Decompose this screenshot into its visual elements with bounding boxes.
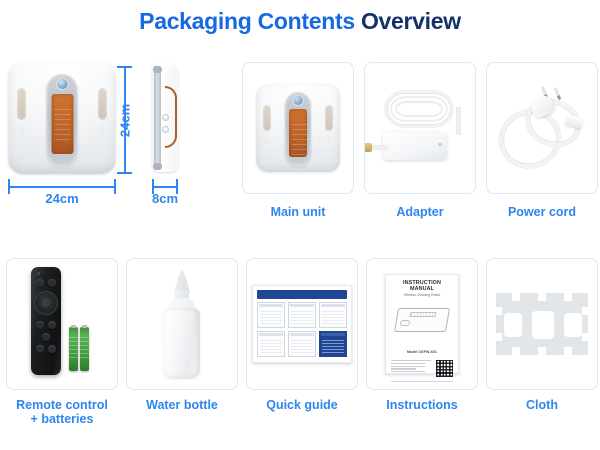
cloth-cutout-right (564, 313, 582, 337)
packaging-contents-overview: Packaging Contents Overview (0, 0, 600, 450)
adapter-output-wire (457, 108, 460, 134)
side-rail (154, 68, 161, 168)
quick-guide-panel (288, 331, 316, 357)
quick-guide-panel (257, 302, 285, 328)
rail-cap-top-icon (153, 66, 162, 73)
manual-footer (391, 360, 453, 377)
manual-text-line (391, 363, 425, 364)
card-adapter[interactable] (364, 62, 476, 194)
card-label-remote-control: Remote control + batteries (0, 398, 124, 426)
cloth-notch-top-1 (512, 292, 520, 301)
cloth-notch-right-bottom (582, 333, 589, 341)
manual-text-line (391, 360, 431, 361)
quick-guide-panel-highlight (319, 331, 347, 357)
card-cloth-media (487, 259, 597, 389)
window-cleaning-robot-icon (256, 84, 340, 172)
card-main-unit[interactable] (242, 62, 354, 194)
bottle-body (164, 308, 200, 378)
cleaning-cloth-icon (496, 293, 588, 355)
remote-button-right-2 (48, 345, 56, 353)
cloth-notch-bottom-2 (538, 347, 546, 356)
remote-dpad (34, 291, 58, 315)
display-screen (289, 109, 307, 157)
power-cord-icon (495, 82, 589, 174)
plug-pin-right-icon (554, 87, 562, 100)
page-title-primary: Packaging Contents (139, 8, 361, 34)
battery-icon-2 (80, 327, 89, 371)
manual-illustration-slot (410, 312, 437, 317)
dimension-label-depth: 8cm (143, 191, 187, 206)
quick-guide-header-bar (257, 290, 347, 299)
quick-guide-panel-grid (257, 302, 347, 357)
manual-product-illustration (394, 302, 450, 336)
cloth-cutout-left (504, 313, 522, 337)
power-adapter-icon (374, 80, 466, 176)
dimension-label-height: 24cm (118, 101, 133, 141)
remote-dpad-center (42, 299, 51, 308)
card-power-cord-media (487, 63, 597, 193)
dimension-tick-height-top (117, 66, 132, 68)
cloth-notch-left-top (495, 307, 502, 315)
side-pad-right-icon (325, 105, 333, 131)
adapter-cable-coil-inner (395, 101, 443, 117)
water-drop-right-icon (326, 133, 333, 143)
display-screen (51, 94, 73, 154)
bottom-foot (290, 164, 306, 168)
dimension-line-depth (152, 186, 178, 188)
card-label-instructions: Instructions (366, 398, 478, 412)
bottom-foot (54, 166, 70, 170)
remote-control-icon (31, 267, 61, 375)
remote-button-center-2 (42, 333, 50, 341)
cloth-notch-right-top (582, 307, 589, 315)
cloth-notch-top-3 (564, 292, 572, 301)
ir-led-icon (37, 272, 40, 275)
power-button-icon (294, 96, 303, 105)
manual-subheading: Window Cleaning Robot (391, 293, 453, 297)
bottle-nozzle-cap (174, 269, 190, 293)
water-drop-left-icon (263, 133, 270, 143)
dimension-label-width: 24cm (8, 191, 116, 206)
instruction-manual-icon: INSTRUCTION MANUAL Window Cleaning Robot… (385, 274, 459, 374)
center-panel (285, 92, 311, 166)
side-pad-left-icon (263, 105, 271, 131)
manual-model-number: Model CKPW-X01 (391, 350, 453, 354)
quick-guide-panel (288, 302, 316, 328)
card-quick-guide[interactable] (246, 258, 358, 390)
card-water-bottle-media (127, 259, 237, 389)
quick-guide-panel (319, 302, 347, 328)
card-instructions[interactable]: INSTRUCTION MANUAL Window Cleaning Robot… (366, 258, 478, 390)
remote-button-power (36, 279, 44, 287)
rail-cap-bottom-icon (153, 163, 162, 170)
card-water-bottle[interactable] (126, 258, 238, 390)
water-drop-left-icon (18, 124, 26, 135)
main-unit-side-view (152, 64, 178, 172)
card-remote-control-media (7, 259, 117, 389)
card-label-adapter: Adapter (364, 205, 476, 219)
side-pad-right-icon (98, 88, 107, 120)
water-drop-right-icon (98, 124, 106, 135)
card-remote-control[interactable] (6, 258, 118, 390)
side-pad-left-icon (17, 88, 26, 120)
cloth-notch-top-2 (538, 292, 546, 301)
card-label-main-unit: Main unit (242, 205, 354, 219)
card-quick-guide-media (247, 259, 357, 389)
card-label-water-bottle: Water bottle (126, 398, 238, 412)
battery-icon-1 (69, 327, 78, 371)
page-title-secondary: Overview (361, 8, 461, 34)
adapter-brick (383, 132, 447, 160)
dimension-diagram: 24cm 24cm 8cm (0, 58, 232, 218)
side-port-upper-icon (162, 114, 169, 121)
remote-button-right-1 (48, 321, 56, 329)
qr-code-icon (436, 360, 453, 377)
card-label-power-cord: Power cord (486, 205, 598, 219)
page-title: Packaging Contents Overview (0, 8, 600, 35)
cloth-notch-left-bottom (495, 333, 502, 341)
card-power-cord[interactable] (486, 62, 598, 194)
manual-text-lines (391, 360, 433, 374)
center-panel (47, 74, 78, 166)
cloth-notch-bottom-3 (564, 347, 572, 356)
card-cloth[interactable] (486, 258, 598, 390)
card-label-cloth: Cloth (486, 398, 598, 412)
manual-text-line (391, 368, 416, 369)
card-main-unit-media (243, 63, 353, 193)
quick-guide-sheet-icon (252, 285, 352, 363)
dc-barrel-connector-icon (365, 143, 372, 152)
power-button-icon (57, 79, 67, 89)
cloth-notch-bottom-1 (512, 347, 520, 356)
dimension-line-width (8, 186, 116, 188)
card-instructions-media: INSTRUCTION MANUAL Window Cleaning Robot… (367, 259, 477, 389)
manual-text-line (391, 366, 425, 367)
manual-text-line (391, 371, 425, 372)
cloth-cutout-center (532, 311, 554, 339)
card-adapter-media (365, 63, 475, 193)
water-bottle-icon (160, 270, 204, 378)
quick-guide-panel (257, 331, 285, 357)
manual-heading: INSTRUCTION MANUAL (391, 280, 453, 292)
remote-button-left-2 (36, 345, 44, 353)
card-label-quick-guide: Quick guide (246, 398, 358, 412)
remote-button-left-1 (36, 321, 44, 329)
remote-button-mode (48, 279, 56, 287)
side-port-lower-icon (162, 126, 169, 133)
dimension-tick-height-bottom (117, 172, 132, 174)
main-unit-front-view (8, 62, 116, 174)
manual-footnote (391, 381, 453, 382)
